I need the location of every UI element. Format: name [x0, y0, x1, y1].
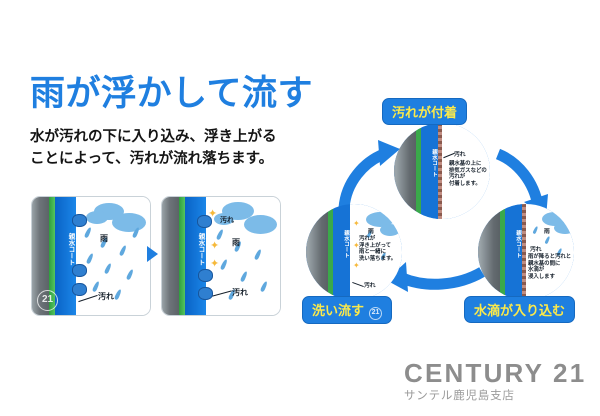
panel-transition-arrow-icon — [147, 246, 158, 262]
cycle-stage-attach: 親水コート 汚れ 親水基の上に 排気ガスなどの 汚れが 付着します。 — [394, 123, 490, 219]
dirt-leader-line — [78, 295, 97, 302]
page-title: 雨が浮かして流す — [30, 74, 313, 114]
substrate-layer — [306, 204, 328, 300]
dirt-edge — [522, 204, 526, 300]
cycle-arrow-up-icon — [344, 154, 384, 208]
raindrop-icon — [119, 245, 127, 257]
illustration-panel-before: 親水コート 雨 汚れ 21 — [31, 196, 151, 316]
rain-label: 雨 — [100, 233, 108, 244]
cloud-icon — [380, 224, 400, 236]
rain-tag: 雨 — [368, 226, 374, 235]
raindrop-icon — [84, 227, 92, 239]
cloud-icon — [112, 213, 146, 232]
dirt-blob-icon — [198, 269, 213, 282]
sparkle-icon: ✦ — [210, 259, 219, 270]
page-subtitle: 水が汚れの下に入り込み、浮き上がる ことによって、汚れが流れ落ちます。 — [30, 126, 277, 170]
logo-wordmark: CENTURY 21 — [404, 358, 586, 388]
dirt-label: 汚れ — [232, 287, 248, 298]
raindrop-icon — [104, 263, 112, 275]
badge-wash: 洗い流す21 — [302, 296, 392, 324]
raindrop-icon — [260, 281, 268, 293]
badge-wash-label: 洗い流す — [312, 303, 364, 318]
coat-label: 親水コート — [57, 233, 74, 266]
dirt-blob-icon — [197, 215, 212, 228]
cloud-icon — [86, 211, 108, 224]
stage-description: 雨が降ると汚れと 親水基の間に 水滴が 浸入します — [528, 254, 571, 280]
stage-description: 汚れが 浮き上がって 雨と一緒に 洗い落ちます。 — [359, 236, 396, 262]
dirt-tag: 汚れ — [530, 244, 542, 253]
cloud-icon — [554, 222, 574, 234]
raindrop-icon — [126, 269, 134, 281]
coat-label: 親水コート — [422, 149, 437, 177]
cloud-icon — [244, 215, 277, 234]
raindrop-icon — [220, 259, 228, 271]
cycle-arrow-left-icon — [402, 272, 482, 284]
stage-description: 親水基の上に 排気ガスなどの 汚れが 付着します。 — [449, 161, 487, 187]
cycle-stage-wash: 親水コート ✦ ✦ ✦ 雨 汚れが 浮き上がって 雨と一緒に 洗い落ちます。 汚… — [306, 204, 402, 300]
century21-logo: CENTURY 21 サンテル鹿児島支店 — [404, 358, 586, 404]
rain-label: 雨 — [232, 237, 240, 248]
badge-water: 水滴が入り込む — [464, 296, 575, 323]
badge-attach: 汚れが付着 — [382, 98, 467, 125]
coat-label: 親水コート — [506, 230, 521, 258]
dirt-edge — [438, 123, 442, 219]
dirt-label: 汚れ — [98, 291, 114, 302]
sparkle-icon: ✦ — [353, 218, 360, 229]
raindrop-icon — [254, 249, 262, 261]
dirt-label-top: 汚れ — [220, 215, 234, 225]
hydrophilic-cycle-diagram: 親水コート 汚れ 親水基の上に 排気ガスなどの 汚れが 付着します。 汚れが付着… — [292, 96, 592, 324]
raindrop-icon — [240, 271, 248, 283]
coat-label: 親水コート — [187, 233, 204, 266]
raindrop-icon — [86, 253, 94, 265]
cycle-arrow-right-icon — [498, 154, 538, 206]
dirt-blob-icon — [198, 287, 213, 300]
coat-label: 親水コート — [334, 230, 349, 258]
cycle-stage-water: 親水コート 雨 汚れ 雨が降ると汚れと 親水基の間に 水滴が 浸入します — [478, 204, 574, 300]
badge-21-mark: 21 — [369, 307, 382, 320]
raindrop-icon — [216, 229, 224, 241]
rain-field: 雨 汚れ — [76, 197, 150, 315]
sparkle-icon: ✦ — [210, 241, 219, 252]
rain-tag: 雨 — [544, 226, 550, 235]
dirt-blob-icon — [72, 214, 87, 227]
dirt-blob-icon — [72, 283, 87, 296]
dirt-blob-icon — [72, 264, 87, 277]
watermark-21: 21 — [37, 290, 58, 311]
substrate-layer — [478, 204, 500, 300]
dirt-tag: 汚れ — [454, 149, 466, 158]
logo-branch-name: サンテル鹿児島支店 — [404, 388, 586, 404]
dirt-tag: 汚れ — [364, 280, 376, 289]
illustration-panel-after: 親水コート 雨 汚れ ✦ ✦ ✦ 汚れ — [161, 196, 281, 316]
raindrop-icon — [114, 289, 122, 301]
substrate-layer — [162, 197, 179, 315]
